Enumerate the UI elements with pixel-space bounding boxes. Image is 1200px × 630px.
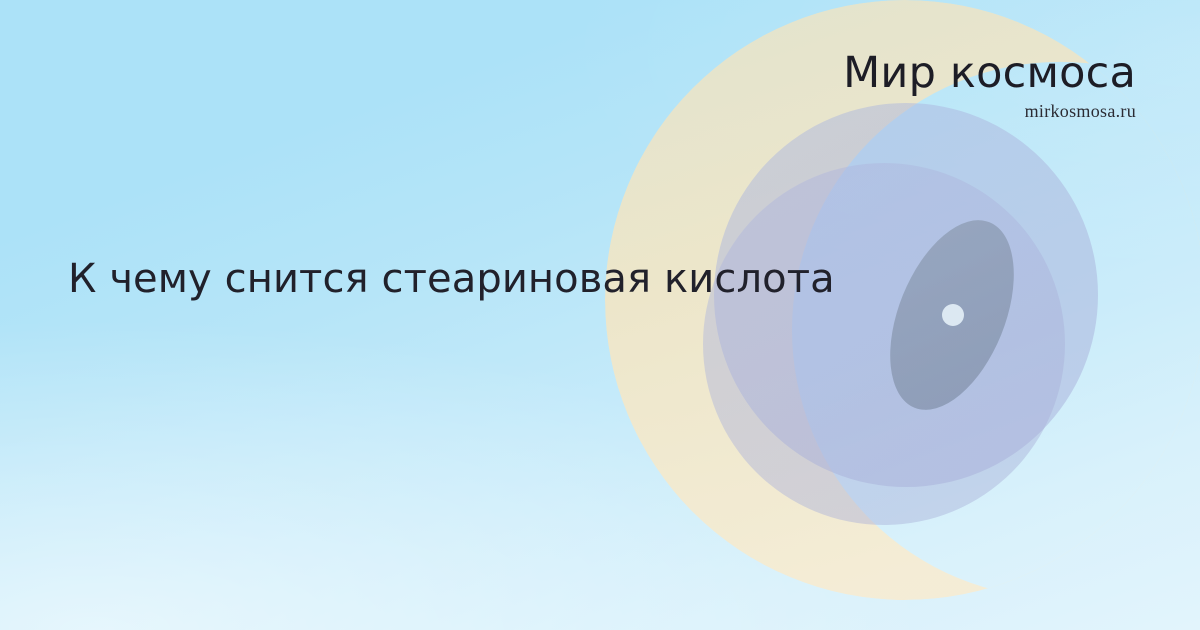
white-dot [942, 304, 964, 326]
social-share-card: Мир космоса mirkosmosa.ru К чему снится … [0, 0, 1200, 630]
page-title: К чему снится стеариновая кислота [68, 256, 998, 303]
site-logo[interactable]: Мир космоса mirkosmosa.ru [843, 52, 1136, 120]
site-url: mirkosmosa.ru [843, 102, 1136, 120]
site-name: Мир космоса [843, 52, 1136, 95]
